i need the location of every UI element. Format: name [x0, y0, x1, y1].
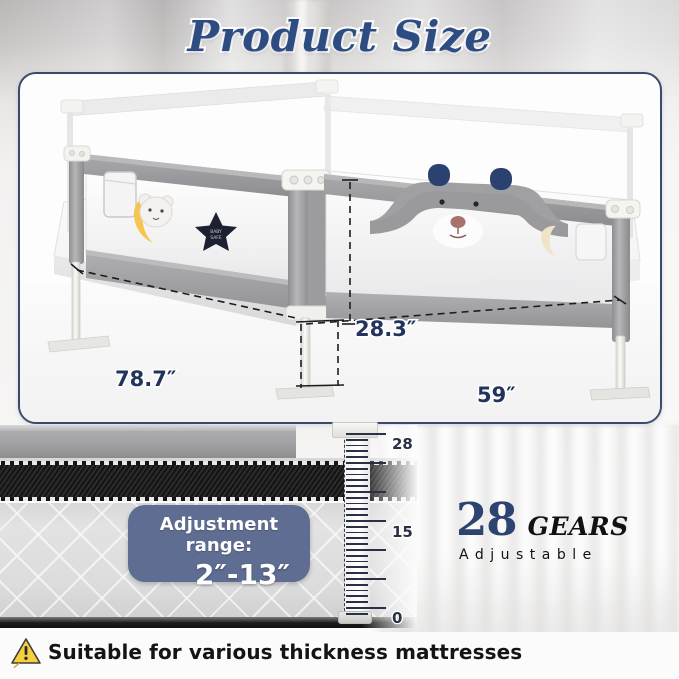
gears-row: 28 GEARS — [456, 497, 671, 542]
card-inner: BABY SAFE — [20, 74, 660, 422]
dimension-height-label: 28.3″ — [355, 317, 416, 341]
ruler-minor-tick — [346, 532, 368, 534]
ruler-minor-tick — [346, 601, 368, 603]
ruler-label: 15 — [392, 523, 413, 541]
dimension-length-label: 78.7″ — [115, 367, 176, 391]
ruler-minor-tick — [346, 479, 368, 481]
ruler-minor-tick — [346, 450, 368, 452]
ruler-minor-tick — [346, 474, 368, 476]
ruler-label: 0 — [392, 609, 402, 627]
ruler-minor-tick — [346, 456, 368, 458]
svg-text:BABY: BABY — [210, 229, 222, 235]
ruler-major-tick — [346, 491, 386, 493]
ruler-minor-tick — [346, 445, 368, 447]
ruler-major-tick — [346, 578, 386, 580]
ruler-minor-tick — [346, 584, 368, 586]
ruler-minor-tick — [346, 514, 368, 516]
bear-patch-icon — [139, 194, 173, 227]
warning-triangle-icon — [10, 636, 42, 668]
ruler-minor-tick — [346, 555, 368, 557]
adjustment-range-badge: Adjustment range: 2″-13″ — [128, 505, 310, 582]
ruler-minor-tick — [346, 537, 368, 539]
ruler-minor-tick — [346, 468, 368, 470]
ruler-minor-tick — [346, 439, 368, 441]
infographic-canvas: Product Size — [0, 0, 679, 679]
svg-text:SAFE: SAFE — [210, 235, 221, 241]
ruler-minor-tick — [346, 613, 368, 615]
measurement-ruler: 28150 — [344, 425, 434, 630]
ruler-major-tick — [346, 549, 386, 551]
page-title: Product Size — [0, 12, 679, 61]
ruler-minor-tick — [346, 503, 368, 505]
gears-block: 28 GEARS Adjustable — [456, 497, 671, 563]
ruler-minor-tick — [346, 526, 368, 528]
footer-note: Suitable for various thickness mattresse… — [48, 640, 522, 664]
adjustment-range-heading: Adjustment range: — [142, 514, 296, 556]
ruler-minor-tick — [346, 543, 368, 545]
adjustment-range-value: 2″-13″ — [142, 558, 296, 591]
gears-word: GEARS — [528, 512, 629, 541]
gears-number: 28 — [456, 497, 517, 542]
ruler-major-tick — [346, 462, 386, 464]
ruler-strip — [344, 425, 370, 621]
ruler-minor-tick — [346, 595, 368, 597]
product-size-card: BABY SAFE — [18, 72, 662, 424]
ruler-major-tick — [346, 607, 386, 609]
ruler-minor-tick — [346, 561, 368, 563]
ruler-minor-tick — [346, 572, 368, 574]
ruler-top-clip — [332, 422, 378, 438]
dimension-width-label: 59″ — [477, 383, 516, 407]
gears-subtitle: Adjustable — [459, 547, 671, 563]
ruler-minor-tick — [346, 508, 368, 510]
ruler-label: 28 — [392, 435, 413, 453]
ruler-major-tick — [346, 520, 386, 522]
ruler-minor-tick — [346, 485, 368, 487]
ruler-major-tick — [346, 433, 386, 435]
ruler-minor-tick — [346, 566, 368, 568]
photo-rail-highlight — [0, 425, 296, 431]
ruler-minor-tick — [346, 497, 368, 499]
ruler-minor-tick — [346, 590, 368, 592]
